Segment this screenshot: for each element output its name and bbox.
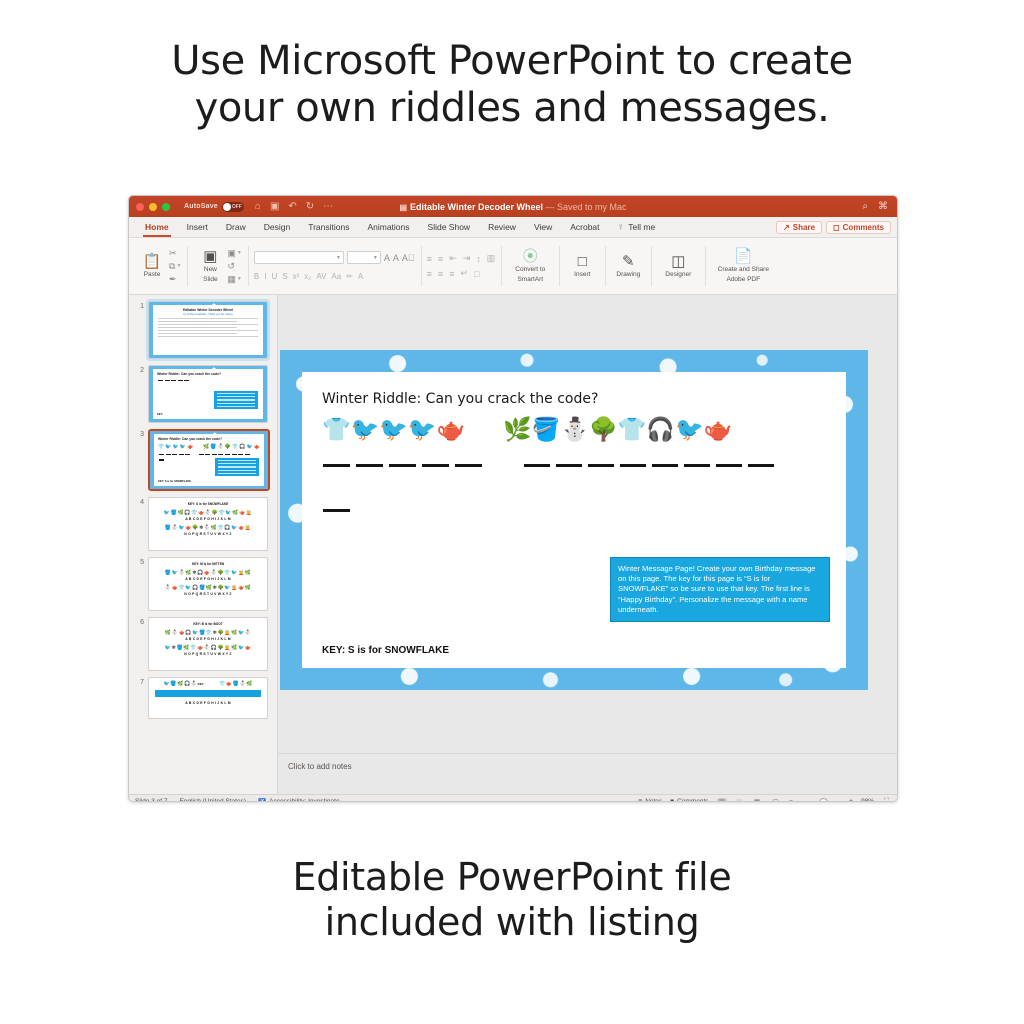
reset-button[interactable]: ↺: [227, 261, 241, 271]
thumb-alphabet-row-2: N O P Q R S T U V W X Y Z: [149, 532, 267, 536]
picture-bluebird: 🐦: [675, 416, 704, 442]
picture-teapot: 🫖: [704, 416, 733, 442]
tab-draw[interactable]: Draw: [217, 217, 255, 237]
blank-dash: [716, 464, 742, 467]
main-area: 1 Editable Winter Decoder Wheel by Craft…: [129, 295, 897, 794]
picture-sweater: 👕: [618, 416, 647, 442]
blank-dash: [684, 464, 710, 467]
document-title-text: Editable Winter Decoder Wheel: [410, 202, 543, 212]
thumbnail-row-6[interactable]: 6 KEY: B is for BOOT 🌿⛄🫖🎧🐦🪣👕❄🌳🧝🌿🐦⛄ A B C…: [129, 611, 277, 671]
bold-button[interactable]: B: [254, 272, 259, 281]
slide-thumbnail-3[interactable]: Winter Riddle: Can you crack the code? 👕…: [148, 429, 270, 491]
subscript-button[interactable]: x₂: [304, 272, 311, 281]
promo-top-line-2: your own riddles and messages.: [0, 85, 1024, 132]
thumb-text-line: [158, 321, 237, 322]
tab-review[interactable]: Review: [479, 217, 525, 237]
thumb-key-pictures-row-2: 🪣⛄🐦🫖🌳❄⛄🌿👕🎧🐦🫖🧝: [149, 525, 267, 531]
promo-heading-bottom: Editable PowerPoint file included with l…: [0, 855, 1024, 945]
adobe-pdf-icon: 📄: [734, 249, 753, 264]
font-size-input[interactable]: ▼: [347, 251, 381, 264]
text-direction-button[interactable]: ↵: [460, 268, 468, 279]
slide-canvas-pane[interactable]: Winter Riddle: Can you crack the code? 👕…: [278, 295, 897, 794]
comment-bubble-icon: ◻: [833, 223, 840, 232]
slide-number-5: 5: [133, 557, 144, 566]
slide-thumbnail-4[interactable]: KEY: S is for SNOWFLAKE 🐦🪣🌿🎧👕🫖⛄🌳👕🐦🌿🫖🧝 A …: [148, 497, 268, 551]
ribbon-group-adobe: 📄 Create and Share Adobe PDF: [705, 240, 781, 292]
titlebar-right-actions[interactable]: ⌕ ⌘: [862, 201, 888, 212]
layout-icon: ▣: [227, 248, 236, 258]
window-controls[interactable]: [136, 203, 170, 211]
blank-dash: [556, 464, 582, 467]
picture-shovel: 🪣: [532, 416, 561, 442]
ribbon-group-slides: ▣ New Slide ▣▼ ↺ ▦▼: [187, 240, 247, 292]
picture-snowman: ⛄: [560, 416, 589, 442]
thumb-text-line: [158, 336, 258, 337]
paintbrush-icon: ✒: [169, 274, 177, 284]
designer-button[interactable]: ◫ Designer: [657, 254, 699, 279]
paragraph-controls: ≡ ≡ ⇤ ⇥ ↕ ▥ ≡ ≡ ≡ ↵ □: [427, 253, 496, 279]
drawing-button[interactable]: ✎ Drawing: [611, 254, 645, 279]
thumb-title-4: KEY: S is for SNOWFLAKE: [149, 502, 267, 506]
superscript-button[interactable]: x²: [293, 272, 300, 281]
slide-thumbnail-1[interactable]: Editable Winter Decoder Wheel by Crafty …: [148, 301, 268, 359]
autosave-state-label: OFF: [232, 204, 242, 210]
clear-formatting-button[interactable]: A⃠: [402, 253, 415, 263]
slide-number-1: 1: [133, 301, 144, 310]
fit-to-window-button[interactable]: ⛶: [882, 798, 891, 803]
zoom-in-button[interactable]: +: [849, 798, 853, 802]
underline-button[interactable]: U: [271, 272, 277, 281]
ribbon-tab-bar: Home Insert Draw Design Transitions Anim…: [129, 217, 897, 238]
thumbnail-row-5[interactable]: 5 KEY: M is for MITTEN 🪣🐦⛄🌿❄🎧🫖⛄🌳👕🐦🧝🌿 A B…: [129, 551, 277, 611]
thumbnail-row-1[interactable]: 1 Editable Winter Decoder Wheel by Craft…: [129, 295, 277, 359]
copy-icon: ⧉: [169, 261, 175, 271]
picture-earmuffs: 🎧: [646, 416, 675, 442]
slides-small-buttons: ▣▼ ↺ ▦▼: [227, 248, 241, 284]
ribbon-toolbar: 📋 Paste ✂ ⧉▼ ✒ ▣ New Slide ▣▼ ↺ ▦▼: [129, 238, 897, 295]
ribbon-right-actions: ↗ Share ◻ Comments: [776, 221, 891, 234]
align-left-button[interactable]: ≡: [427, 269, 432, 279]
chevron-down-icon: ▼: [336, 255, 341, 261]
thumb-alphabet-row-2: N O P Q R S T U V W X Y Z: [149, 652, 267, 656]
change-case-button[interactable]: Aa: [331, 272, 341, 281]
zoom-track[interactable]: [795, 801, 847, 803]
font-controls: ▼ ▼ A A A⃠ B I U S x² x₂ AV Aa ✏ A: [254, 251, 415, 281]
thumb-key-2: KEY:: [157, 413, 163, 416]
thumb-alphabet-row-1: A B C D E F G H I J K L M: [149, 517, 267, 521]
promo-heading-top: Use Microsoft PowerPoint to create your …: [0, 38, 1024, 132]
paragraph-row-1: ≡ ≡ ⇤ ⇥ ↕ ▥: [427, 253, 496, 264]
blank-dash: [748, 464, 774, 467]
zoom-out-button[interactable]: −: [789, 798, 793, 802]
cut-button[interactable]: ✂: [169, 248, 181, 258]
thumb-pictures-3: 👕🐦🐦🐦🫖 🌿🪣⛄🌳👕🎧🐦🫖: [158, 444, 264, 450]
paragraph-row-2: ≡ ≡ ≡ ↵ □: [427, 268, 496, 279]
slide-content-area[interactable]: Winter Riddle: Can you crack the code? 👕…: [302, 372, 846, 668]
thumb-title-6: KEY: B is for BOOT: [149, 622, 267, 626]
designer-icon: ◫: [671, 254, 685, 269]
notes-placeholder[interactable]: Click to add notes: [288, 762, 897, 771]
slide-number-6: 6: [133, 617, 144, 626]
blank-dash: [588, 464, 614, 467]
picture-cardinal: 🐦: [379, 416, 408, 442]
thumb-alphabet-row-1: A B C D E F G H I J K L M: [149, 701, 267, 705]
thumb-subtitle-1: by Crafty Annabelle • Thank you for visi…: [153, 313, 263, 316]
picture-bare-tree: 🌳: [589, 416, 618, 442]
ribbon-group-drawing: ✎ Drawing: [605, 240, 651, 292]
new-slide-icon: ▣: [203, 249, 217, 264]
numbering-button[interactable]: ≡: [438, 254, 443, 264]
undo-icon[interactable]: ↶: [288, 201, 296, 212]
slide-number-2: 2: [133, 365, 144, 374]
columns-button[interactable]: ▥: [487, 253, 496, 264]
share-label: Share: [793, 223, 815, 232]
picture-pine-branch: 🌿: [503, 416, 532, 442]
smartart-label-line1: Convert to: [515, 266, 545, 274]
grow-font-button[interactable]: A: [384, 253, 390, 263]
thumb-blanks-3: [159, 454, 264, 455]
line-spacing-button[interactable]: ↕: [476, 254, 481, 264]
thumb-key-pictures-row-1: 🪣🐦⛄🌿❄🎧🫖⛄🌳👕🐦🧝🌿: [149, 570, 267, 576]
font-color-button[interactable]: A: [358, 272, 363, 281]
minimize-window-button[interactable]: [149, 203, 157, 211]
thumb-key-pictures-row-1: 🐦🪣🌿🎧👕🫖⛄🌳👕🐦🌿🫖🧝: [149, 510, 267, 516]
ribbon-group-paragraph: ≡ ≡ ⇤ ⇥ ↕ ▥ ≡ ≡ ≡ ↵ □: [421, 240, 502, 292]
tell-me-label: Tell me: [628, 222, 655, 232]
picture-cardinal: 🐦: [408, 416, 437, 442]
title-bar: AutoSave OFF ⌂ ▣ ↶ ↻ ⋯ ▤Editable Winter …: [129, 196, 897, 217]
tab-slide-show[interactable]: Slide Show: [419, 217, 480, 237]
tab-acrobat[interactable]: Acrobat: [561, 217, 608, 237]
thumb-text-line: [158, 327, 237, 328]
thumb-title-1: Editable Winter Decoder Wheel: [153, 308, 263, 312]
instruction-callout[interactable]: Winter Message Page! Create your own Bir…: [610, 557, 830, 622]
new-slide-label-line2: Slide: [203, 276, 217, 284]
slide-thumbnail-5[interactable]: KEY: M is for MITTEN 🪣🐦⛄🌿❄🎧🫖⛄🌳👕🐦🧝🌿 A B C…: [148, 557, 268, 611]
align-center-button[interactable]: ≡: [438, 269, 443, 279]
thumb-key-label-7: KEY: [198, 681, 204, 687]
view-normal-button[interactable]: ▥: [717, 798, 728, 803]
redo-icon[interactable]: ↻: [306, 201, 314, 212]
paste-icon: 📋: [143, 254, 162, 269]
create-share-adobe-pdf-button[interactable]: 📄 Create and Share Adobe PDF: [711, 249, 775, 283]
convert-to-smartart-button[interactable]: ⦿ Convert to SmartArt: [507, 249, 553, 283]
quick-access-toolbar[interactable]: ⌂ ▣ ↶ ↻ ⋯: [255, 201, 333, 212]
blank-dash: [455, 464, 482, 467]
blank-dash: [422, 464, 449, 467]
scissors-icon: ✂: [169, 248, 177, 258]
font-row: ▼ ▼ A A A⃠: [254, 251, 415, 264]
autosave-toggle[interactable]: AutoSave OFF: [184, 202, 244, 212]
thumb-blanks-2: [158, 380, 263, 381]
chevron-down-icon: ▼: [237, 248, 242, 258]
ribbon-group-clipboard: 📋 Paste ✂ ⧉▼ ✒: [129, 240, 187, 292]
chevron-down-icon: ▼: [237, 274, 242, 284]
strikethrough-button[interactable]: S: [282, 272, 287, 281]
thumb-text-line: [158, 330, 258, 331]
promo-bottom-line-2: included with listing: [0, 900, 1024, 945]
current-slide[interactable]: Winter Riddle: Can you crack the code? 👕…: [280, 350, 868, 690]
search-icon[interactable]: ⌕: [862, 201, 868, 212]
zoom-knob[interactable]: [819, 798, 828, 803]
thumb-callout-3: [215, 458, 259, 476]
notes-pane[interactable]: Click to add notes: [278, 753, 897, 794]
bullets-button[interactable]: ≡: [427, 254, 432, 264]
comments-label: Comments: [677, 798, 708, 802]
section-button[interactable]: ▦▼: [227, 274, 241, 284]
align-text-button[interactable]: □: [474, 269, 479, 279]
picture-bluebird: 🐦: [351, 416, 380, 442]
thumbnail-row-2[interactable]: 2 Winter Riddle: Can you crack the code?…: [129, 359, 277, 423]
thumb-title-5: KEY: M is for MITTEN: [149, 562, 267, 566]
blank-dash: [323, 509, 350, 512]
document-icon: ▤: [399, 203, 407, 212]
ribbon-group-insert: □ Insert: [559, 240, 605, 292]
more-options-icon[interactable]: ⋯: [323, 201, 333, 212]
thumb-text-line: [158, 324, 258, 325]
notes-toggle-button[interactable]: ≡ Notes: [638, 798, 662, 802]
slide-picture-row: 👕 🐦 🐦 🐦 🫖 🌿 🪣 ⛄ 🌳 👕 🎧 🐦 🫖: [322, 416, 846, 442]
tab-design[interactable]: Design: [255, 217, 299, 237]
autosave-knob: [223, 203, 231, 211]
blank-dash: [652, 464, 678, 467]
smartart-label-line2: SmartArt: [517, 276, 543, 284]
picture-teapot: 🫖: [437, 416, 466, 442]
reset-icon: ↺: [227, 261, 235, 271]
ribbon-display-options-icon[interactable]: ⌘: [878, 201, 888, 212]
adobe-label-line1: Create and Share: [718, 266, 769, 274]
slide-number-7: 7: [133, 677, 144, 686]
shrink-font-button[interactable]: A: [393, 253, 399, 263]
slide-count-label: Slide 3 of 7: [135, 798, 168, 802]
adobe-label-line2: Adobe PDF: [726, 276, 760, 284]
blank-dash: [356, 464, 383, 467]
insert-textbox-icon: □: [578, 254, 587, 269]
slide-key-text[interactable]: KEY: S is for SNOWFLAKE: [322, 645, 449, 656]
comment-icon: ■: [670, 798, 674, 802]
slide-title[interactable]: Winter Riddle: Can you crack the code?: [322, 391, 846, 407]
ribbon-group-smartart: ⦿ Convert to SmartArt: [501, 240, 559, 292]
tab-view[interactable]: View: [525, 217, 561, 237]
thumb-title-2: Winter Riddle: Can you crack the code?: [157, 372, 263, 376]
increase-indent-button[interactable]: ⇥: [463, 253, 471, 264]
copy-button[interactable]: ⧉▼: [169, 261, 181, 271]
share-button[interactable]: ↗ Share: [776, 221, 822, 234]
slide-thumbnail-6[interactable]: KEY: B is for BOOT 🌿⛄🫖🎧🐦🪣👕❄🌳🧝🌿🐦⛄ A B C D…: [148, 617, 268, 671]
maximize-window-button[interactable]: [162, 203, 170, 211]
slide-number-3: 3: [133, 429, 144, 438]
format-row: B I U S x² x₂ AV Aa ✏ A: [254, 272, 415, 281]
promo-top-line-1: Use Microsoft PowerPoint to create: [0, 38, 1024, 85]
comments-label: Comments: [843, 223, 884, 232]
pencil-icon: ✎: [622, 254, 635, 269]
chevron-down-icon: ▼: [373, 255, 378, 261]
zoom-slider[interactable]: − +: [789, 798, 853, 802]
thumb-alphabet-row-1: A B C D E F G H I J K L M: [149, 637, 267, 641]
accessibility-icon: ♿: [258, 798, 266, 803]
section-icon: ▦: [227, 274, 236, 284]
view-slideshow-button[interactable]: ▢: [770, 798, 781, 803]
thumb-alphabet-row-1: A B C D E F G H I J K L M: [149, 577, 267, 581]
paste-label: Paste: [144, 271, 161, 279]
blank-dash: [389, 464, 416, 467]
document-title: ▤Editable Winter Decoder Wheel — Saved t…: [129, 202, 897, 212]
new-slide-label-line1: New: [204, 266, 217, 274]
blank-dash: [620, 464, 646, 467]
view-reading-button[interactable]: ▦: [752, 798, 763, 803]
text-highlight-button[interactable]: ✏: [346, 272, 353, 281]
thumbnail-content-2: Winter Riddle: Can you crack the code? K…: [153, 369, 263, 419]
thumb-alphabet-row-2: N O P Q R S T U V W X Y Z: [149, 592, 267, 596]
promo-bottom-line-1: Editable PowerPoint file: [0, 855, 1024, 900]
thumbnail-row-3[interactable]: 3 Winter Riddle: Can you crack the code?…: [129, 423, 277, 491]
clear-formatting-icon: A⃠: [402, 253, 415, 263]
designer-label: Designer: [665, 271, 691, 279]
character-spacing-button[interactable]: AV: [316, 272, 326, 281]
tell-me-search[interactable]: ☿ Tell me: [609, 222, 665, 232]
status-bar: Slide 3 of 7 English (United States) ♿ A…: [129, 794, 897, 802]
share-icon: ↗: [783, 223, 790, 232]
slide-blanks-row-1: [323, 464, 846, 467]
view-slide-sorter-button[interactable]: ∷: [735, 798, 743, 803]
align-right-button[interactable]: ≡: [449, 269, 454, 279]
ribbon-group-designer: ◫ Designer: [651, 240, 705, 292]
chevron-down-icon: ▼: [176, 261, 181, 271]
font-name-input[interactable]: ▼: [254, 251, 344, 264]
thumb-key-pictures-row-1: 🐦🪣🌿🎧⛄KEY👕🫖🪣⛄🌿: [149, 681, 267, 687]
slide-number-4: 4: [133, 497, 144, 506]
autosave-label: AutoSave: [184, 203, 218, 210]
shrink-font-icon: A: [393, 253, 399, 263]
thumb-text-line: [158, 333, 237, 334]
lightbulb-icon: ☿: [618, 222, 625, 232]
tab-transitions[interactable]: Transitions: [299, 217, 358, 237]
autosave-switch[interactable]: OFF: [222, 202, 244, 212]
zoom-level-label[interactable]: 98%: [861, 798, 874, 802]
blank-dash: [524, 464, 550, 467]
thumbnail-content-1: Editable Winter Decoder Wheel by Crafty …: [153, 305, 263, 355]
new-slide-button[interactable]: ▣ New Slide: [193, 249, 227, 283]
thumbnail-content-3: Winter Riddle: Can you crack the code? 👕…: [154, 434, 264, 486]
thumb-key-pictures-row-2: 🐦❄🪣🌿👕🫖⛄🎧🌳🧝🌿🐦🫖: [149, 645, 267, 651]
accessibility-label: Accessibility: Investigate: [269, 798, 339, 802]
smartart-icon: ⦿: [523, 249, 538, 264]
picture-sweater: 👕: [322, 416, 351, 442]
decrease-indent-button[interactable]: ⇤: [449, 253, 457, 264]
language-label[interactable]: English (United States): [180, 798, 246, 802]
layout-button[interactable]: ▣▼: [227, 248, 241, 258]
thumb-title-3: Winter Riddle: Can you crack the code?: [158, 437, 264, 441]
clipboard-small-buttons: ✂ ⧉▼ ✒: [169, 248, 181, 284]
format-painter-button[interactable]: ✒: [169, 274, 181, 284]
ribbon-group-font: ▼ ▼ A A A⃠ B I U S x² x₂ AV Aa ✏ A: [248, 240, 421, 292]
thumb-text-line: [158, 318, 258, 319]
thumb-key-3: KEY: S is for SNOWFLAKE: [158, 480, 191, 483]
notes-icon: ≡: [638, 798, 642, 802]
drawing-label: Drawing: [616, 271, 640, 279]
comments-button[interactable]: ◻ Comments: [826, 221, 891, 234]
thumb-key-pictures-row-2: ⛄🫖👕🐦🎧🪣🌿❄🌳🐦🧝🫖🌿: [149, 585, 267, 591]
slide-thumbnail-7[interactable]: 🐦🪣🌿🎧⛄KEY👕🫖🪣⛄🌿 A B C D E F G H I J K L M: [148, 677, 268, 719]
status-bar-right: ≡ Notes ■ Comments ▥ ∷ ▦ ▢ − + 98% ⛶: [638, 798, 891, 803]
document-saved-state: — Saved to my Mac: [546, 202, 627, 212]
thumbnail-row-4[interactable]: 4 KEY: S is for SNOWFLAKE 🐦🪣🌿🎧👕🫖⛄🌳👕🐦🌿🫖🧝 …: [129, 491, 277, 551]
thumb-key-pictures-row-1: 🌿⛄🫖🎧🐦🪣👕❄🌳🧝🌿🐦⛄: [149, 630, 267, 636]
powerpoint-window: AutoSave OFF ⌂ ▣ ↶ ↻ ⋯ ▤Editable Winter …: [128, 195, 898, 802]
accessibility-status[interactable]: ♿ Accessibility: Investigate: [258, 798, 340, 803]
tab-insert[interactable]: Insert: [178, 217, 217, 237]
save-icon[interactable]: ▣: [270, 201, 279, 212]
thumbnail-row-7[interactable]: 7 🐦🪣🌿🎧⛄KEY👕🫖🪣⛄🌿 A B C D E F G H I J K L …: [129, 671, 277, 719]
close-window-button[interactable]: [136, 203, 144, 211]
comments-toggle-button[interactable]: ■ Comments: [670, 798, 708, 802]
slide-blanks-row-2: [323, 509, 846, 512]
notes-label: Notes: [645, 798, 662, 802]
insert-label: Insert: [574, 271, 590, 279]
paste-button[interactable]: 📋 Paste: [135, 254, 169, 279]
blank-dash: [323, 464, 350, 467]
italic-button[interactable]: I: [264, 272, 266, 281]
slide-thumbnail-pane[interactable]: 1 Editable Winter Decoder Wheel by Craft…: [129, 295, 278, 794]
grow-font-icon: A: [384, 253, 390, 263]
home-icon[interactable]: ⌂: [255, 201, 261, 212]
insert-button[interactable]: □ Insert: [565, 254, 599, 279]
tab-home[interactable]: Home: [136, 217, 178, 237]
thumb-callout-7: [155, 690, 261, 697]
slide-thumbnail-2[interactable]: Winter Riddle: Can you crack the code? K…: [148, 365, 268, 423]
thumb-callout-2: [214, 391, 258, 409]
tab-animations[interactable]: Animations: [358, 217, 418, 237]
